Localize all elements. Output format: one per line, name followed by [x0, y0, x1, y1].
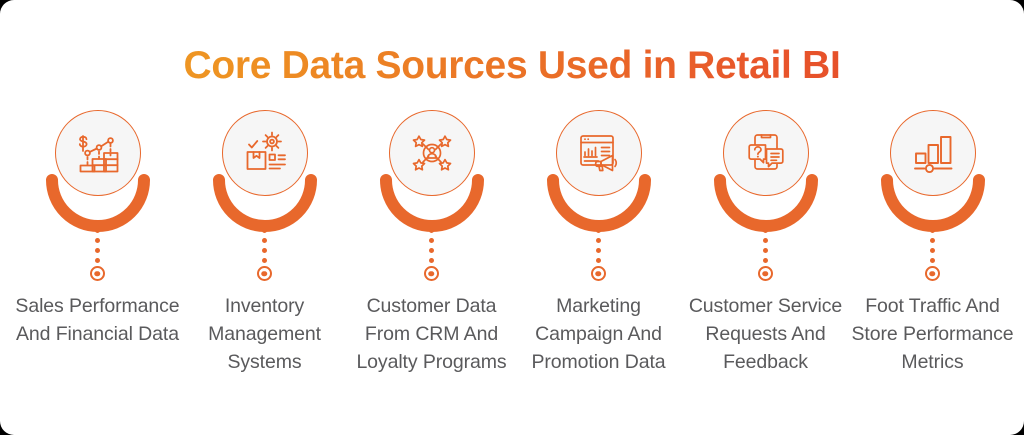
connector-dot — [930, 238, 935, 243]
marketing-report-megaphone-icon — [556, 110, 642, 196]
connector-dot — [596, 248, 601, 253]
connector-dot — [262, 248, 267, 253]
connector-dot — [596, 228, 601, 233]
connector-dot — [763, 228, 768, 233]
data-source-item-6[interactable]: Foot Traffic And Store Performance Metri… — [849, 110, 1016, 376]
foot-traffic-bar-chart-icon — [890, 110, 976, 196]
data-source-label-3: Customer Data From CRM And Loyalty Progr… — [344, 292, 519, 376]
connector-endpoint — [591, 266, 606, 281]
badge-3 — [372, 110, 492, 218]
customer-support-question-icon — [723, 110, 809, 196]
connector-dot — [763, 238, 768, 243]
connector-dot — [763, 258, 768, 263]
connector-dot — [596, 238, 601, 243]
connector-dot — [95, 238, 100, 243]
connector-endpoint — [925, 266, 940, 281]
data-source-label-2: Inventory Management Systems — [177, 292, 352, 376]
data-source-item-2[interactable]: Inventory Management Systems — [181, 110, 348, 376]
inventory-box-gear-icon — [222, 110, 308, 196]
badge-1 — [38, 110, 158, 218]
connector-5 — [754, 228, 778, 280]
connector-dot — [95, 248, 100, 253]
data-source-label-5: Customer Service Requests And Feedback — [678, 292, 853, 376]
badge-5 — [706, 110, 826, 218]
data-source-label-6: Foot Traffic And Store Performance Metri… — [845, 292, 1020, 376]
connector-dot — [95, 228, 100, 233]
data-source-list: Sales Performance And Financial Data — [0, 110, 1024, 376]
customer-loyalty-network-icon — [389, 110, 475, 196]
connector-dot — [930, 228, 935, 233]
page-title: Core Data Sources Used in Retail BI — [0, 44, 1024, 89]
connector-dot — [763, 248, 768, 253]
connector-dot — [930, 248, 935, 253]
infographic-canvas: Core Data Sources Used in Retail BI — [0, 0, 1024, 435]
badge-2 — [205, 110, 325, 218]
connector-dot — [930, 258, 935, 263]
connector-endpoint — [424, 266, 439, 281]
connector-dot — [95, 258, 100, 263]
connector-dot — [262, 228, 267, 233]
connector-dot — [262, 258, 267, 263]
connector-2 — [253, 228, 277, 280]
connector-dot — [429, 238, 434, 243]
sales-growth-chart-icon — [55, 110, 141, 196]
connector-6 — [921, 228, 945, 280]
connector-dot — [262, 238, 267, 243]
connector-endpoint — [257, 266, 272, 281]
connector-dot — [429, 258, 434, 263]
data-source-label-4: Marketing Campaign And Promotion Data — [511, 292, 686, 376]
connector-endpoint — [758, 266, 773, 281]
data-source-item-3[interactable]: Customer Data From CRM And Loyalty Progr… — [348, 110, 515, 376]
badge-6 — [873, 110, 993, 218]
connector-3 — [420, 228, 444, 280]
connector-4 — [587, 228, 611, 280]
connector-dot — [596, 258, 601, 263]
data-source-item-1[interactable]: Sales Performance And Financial Data — [14, 110, 181, 348]
connector-1 — [86, 228, 110, 280]
connector-endpoint — [90, 266, 105, 281]
connector-dot — [429, 248, 434, 253]
data-source-item-4[interactable]: Marketing Campaign And Promotion Data — [515, 110, 682, 376]
connector-dot — [429, 228, 434, 233]
data-source-label-1: Sales Performance And Financial Data — [10, 292, 185, 348]
badge-4 — [539, 110, 659, 218]
data-source-item-5[interactable]: Customer Service Requests And Feedback — [682, 110, 849, 376]
